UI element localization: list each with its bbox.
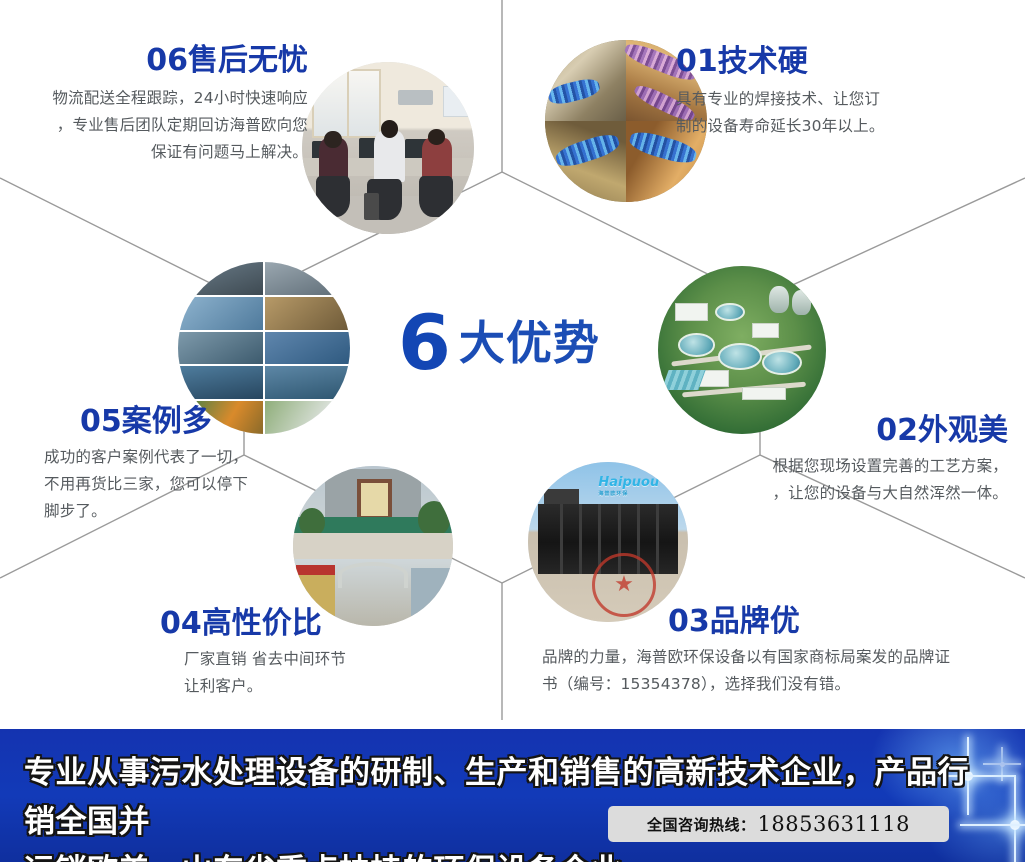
feature-image-02 [658, 266, 826, 434]
brand-watermark: Haipuou 海普欧环保 [598, 475, 659, 497]
center-number: 6 [398, 305, 449, 381]
feature-05-desc-line: 脚步了。 [44, 498, 380, 525]
feature-03: 03品牌优 品牌的力量，海普欧环保设备以有国家商标局案发的品牌证 书（编号：15… [542, 606, 1012, 698]
sparkle-icon [983, 747, 1021, 781]
hotline-label: 全国咨询热线： [647, 814, 756, 835]
feature-05: 05案例多 成功的客户案例代表了一切， 不用再货比三家，您可以停下 脚步了。 [80, 406, 380, 525]
star-icon: ★ [614, 574, 634, 596]
page-root: 6 大优势 06售后无忧 物流配送全程跟踪，24小时快速响应 ，专业售后团队定期… [0, 0, 1025, 862]
feature-02-desc: 根据您现场设置完善的工艺方案， ，让您的设备与大自然浑然一体。 [660, 453, 1008, 507]
feature-03-title: 03品牌优 [668, 606, 1012, 638]
center-label: 大优势 [459, 320, 600, 366]
feature-image-03: Haipuou 海普欧环保 ★ [528, 462, 688, 622]
feature-06-title: 06售后无忧 [8, 45, 308, 77]
office-staff-photo [302, 62, 474, 234]
feature-01-desc-line: 具有专业的焊接技术、让您订 [676, 86, 1006, 113]
hotline-number: 18853631118 [758, 812, 910, 836]
center-badge: 6 大优势 [398, 295, 638, 390]
feature-04-desc-line: 让利客户。 [184, 673, 490, 700]
feature-05-desc: 成功的客户案例代表了一切， 不用再货比三家，您可以停下 脚步了。 [44, 444, 380, 525]
feature-02-desc-line: ，让您的设备与大自然浑然一体。 [660, 480, 1008, 507]
feature-04-title: 04高性价比 [160, 608, 490, 640]
feature-04-desc-line: 厂家直销 省去中间环节 [184, 646, 490, 673]
feature-05-title: 05案例多 [80, 406, 380, 438]
feature-03-desc-line: 书（编号：15354378），选择我们没有错。 [542, 671, 1012, 698]
feature-06-desc: 物流配送全程跟踪，24小时快速响应 ，专业售后团队定期回访海普欧向您 保证有问题… [8, 85, 308, 166]
feature-01-desc-line: 制的设备寿命延长30年以上。 [676, 113, 1006, 140]
feature-02-title: 02外观美 [660, 415, 1008, 447]
feature-04-desc: 厂家直销 省去中间环节 让利客户。 [184, 646, 490, 700]
bottom-banner: 专业从事污水处理设备的研制、生产和销售的高新技术企业，产品行销全国并 远销欧美，… [0, 729, 1025, 862]
feature-image-06 [302, 62, 474, 234]
feature-06-desc-line: 物流配送全程跟踪，24小时快速响应 [8, 85, 308, 112]
hotline-box[interactable]: 全国咨询热线： 18853631118 [608, 806, 949, 842]
black-equipment-photo: Haipuou 海普欧环保 ★ [528, 462, 688, 622]
feature-05-desc-line: 不用再货比三家，您可以停下 [44, 471, 380, 498]
feature-06-desc-line: 保证有问题马上解决。 [8, 139, 308, 166]
aerial-sewage-plant-photo [658, 266, 826, 434]
feature-02: 02外观美 根据您现场设置完善的工艺方案， ，让您的设备与大自然浑然一体。 [660, 415, 1008, 507]
feature-05-desc-line: 成功的客户案例代表了一切， [44, 444, 380, 471]
banner-line-2: 远销欧美，山东省重点扶持的环保设备企业。 [24, 847, 984, 862]
feature-01-title: 01技术硬 [676, 46, 1006, 78]
feature-03-desc: 品牌的力量，海普欧环保设备以有国家商标局案发的品牌证 书（编号：15354378… [542, 644, 1012, 698]
feature-04: 04高性价比 厂家直销 省去中间环节 让利客户。 [160, 608, 490, 700]
feature-06-desc-line: ，专业售后团队定期回访海普欧向您 [8, 112, 308, 139]
feature-01: 01技术硬 具有专业的焊接技术、让您订 制的设备寿命延长30年以上。 [676, 46, 1006, 140]
feature-02-desc-line: 根据您现场设置完善的工艺方案， [660, 453, 1008, 480]
feature-03-desc-line: 品牌的力量，海普欧环保设备以有国家商标局案发的品牌证 [542, 644, 1012, 671]
feature-06: 06售后无忧 物流配送全程跟踪，24小时快速响应 ，专业售后团队定期回访海普欧向… [8, 45, 308, 166]
feature-01-desc: 具有专业的焊接技术、让您订 制的设备寿命延长30年以上。 [676, 86, 1006, 140]
